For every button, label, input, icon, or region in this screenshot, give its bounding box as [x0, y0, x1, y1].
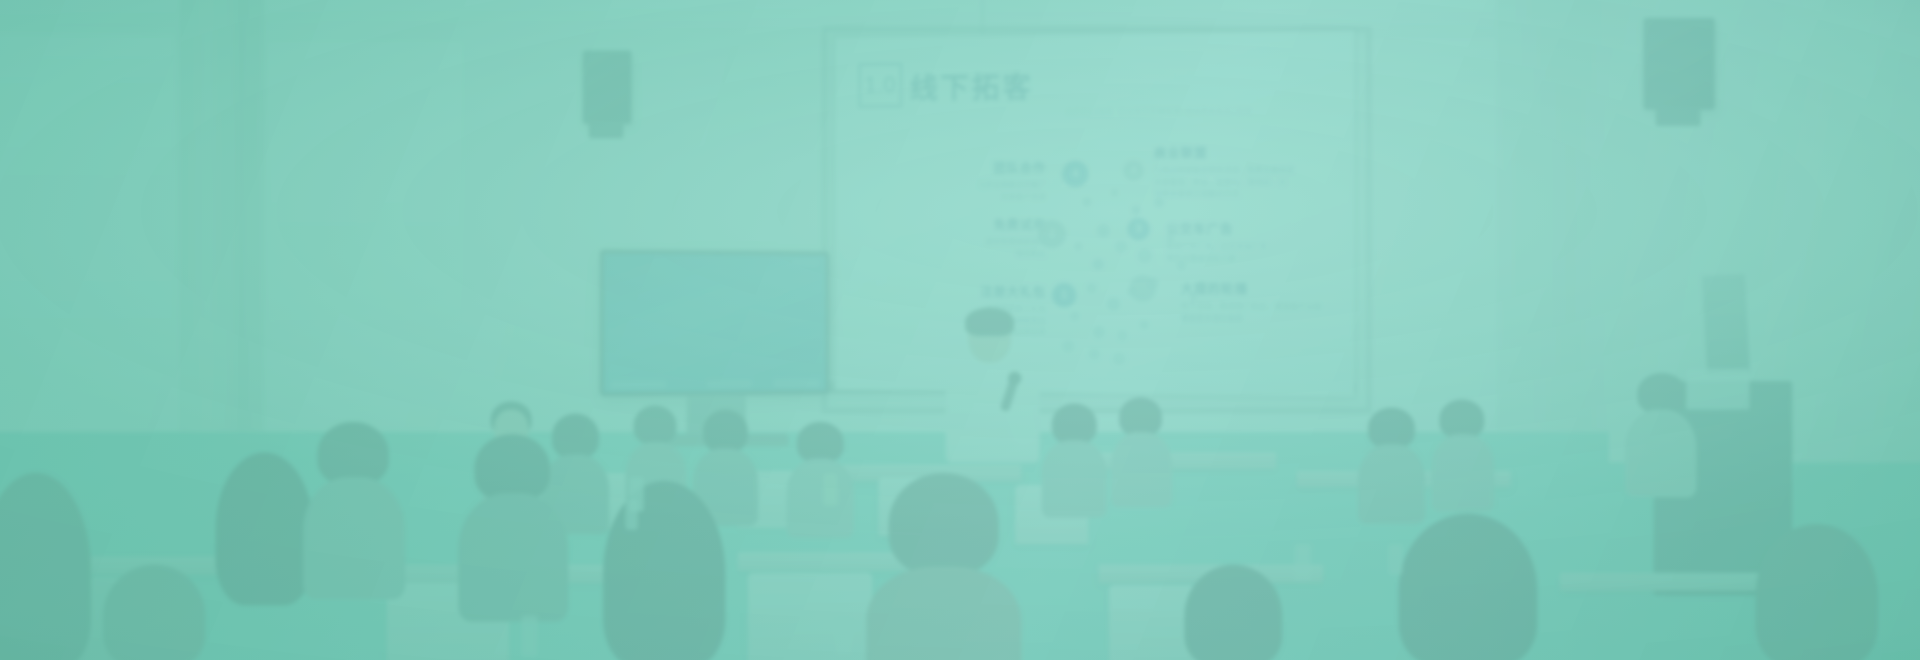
vignette: [0, 0, 1920, 660]
hero-banner: 1.0 线下拓客 OFFLINE CUSTOMER EXPANSION 团队合作…: [0, 0, 1920, 660]
